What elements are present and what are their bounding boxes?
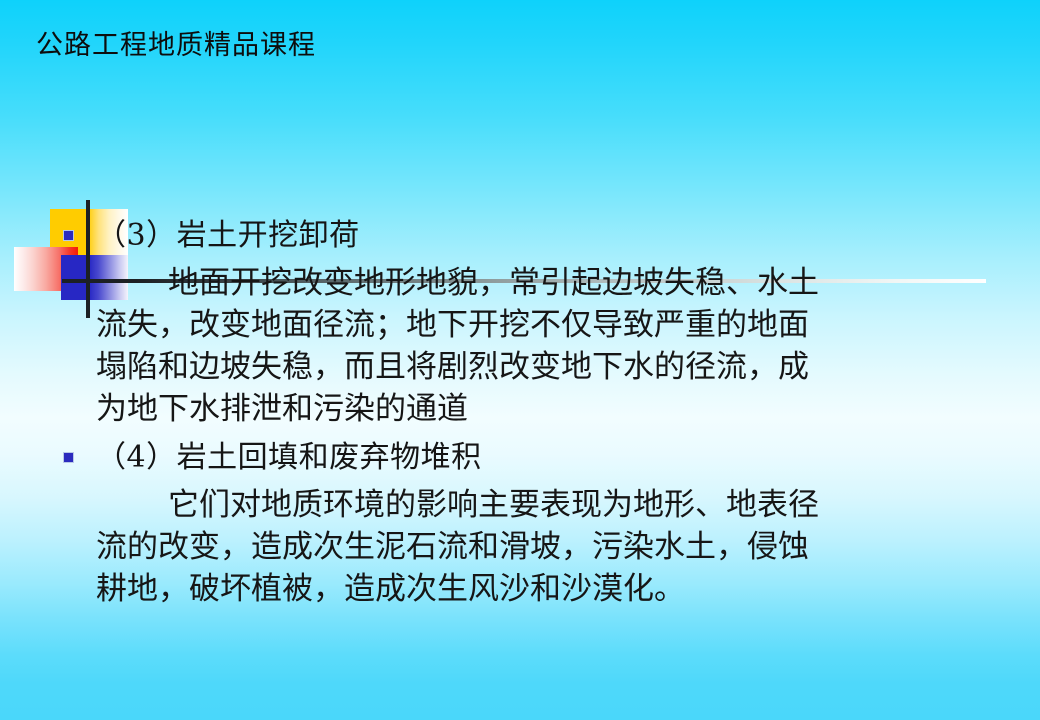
page-title: 公路工程地质精品课程	[36, 29, 316, 63]
paragraph-3-line-2: 流失，改变地面径流；地下开挖不仅导致严重的地面	[96, 304, 986, 346]
paragraph-4-line-1: 它们对地质环境的影响主要表现为地形、地表径	[96, 484, 986, 526]
bullet-item-3: （3）岩土开挖卸荷	[0, 214, 1040, 262]
paragraph-3: 地面开挖改变地形地貌，常引起边坡失稳、水土 流失，改变地面径流；地下开挖不仅导致…	[96, 262, 986, 430]
bullet-item-3-label: （3）岩土开挖卸荷	[96, 214, 360, 258]
decorative-logo-group	[0, 95, 1000, 225]
paragraph-3-line-1: 地面开挖改变地形地貌，常引起边坡失稳、水土	[96, 262, 986, 304]
bullet-item-4: （4）岩土回填和废弃物堆积	[0, 436, 1040, 484]
presentation-slide: 公路工程地质精品课程 （3）岩土开挖卸荷 地面开挖改变地形地貌，常引起边坡失稳、…	[0, 0, 1040, 720]
paragraph-4-line-3: 耕地，破坏植被，造成次生风沙和沙漠化。	[96, 568, 986, 610]
paragraph-4: 它们对地质环境的影响主要表现为地形、地表径 流的改变，造成次生泥石流和滑坡，污染…	[96, 484, 986, 610]
paragraph-3-line-4: 为地下水排泄和污染的通道	[96, 388, 986, 430]
paragraph-3-line-3: 塌陷和边坡失稳，而且将剧烈改变地下水的径流，成	[96, 346, 986, 388]
slide-body: （3）岩土开挖卸荷 地面开挖改变地形地貌，常引起边坡失稳、水土 流失，改变地面径…	[0, 214, 1040, 610]
square-bullet-icon	[63, 230, 74, 241]
bullet-item-4-label: （4）岩土回填和废弃物堆积	[96, 436, 482, 480]
square-bullet-icon	[63, 452, 74, 463]
paragraph-4-line-2: 流的改变，造成次生泥石流和滑坡，污染水土，侵蚀	[96, 526, 986, 568]
